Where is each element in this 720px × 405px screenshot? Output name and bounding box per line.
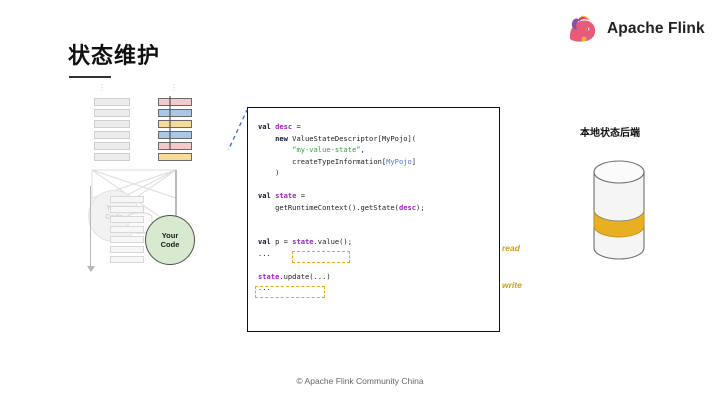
stack-bar (110, 196, 144, 203)
write-label: write (502, 280, 522, 290)
dots-right: ⋮ (170, 86, 178, 89)
color-bar (158, 98, 192, 106)
gray-bar (94, 153, 130, 161)
brand: Apache Flink (566, 14, 705, 44)
slide-root: Apache Flink 状态维护 ⋮ ⋮ (0, 0, 720, 405)
gray-bar (94, 142, 130, 150)
read-highlight-box (292, 251, 350, 263)
stack-bar (110, 216, 144, 223)
brand-name: Apache Flink (607, 20, 705, 38)
your-code-node[interactable]: Your Code (145, 215, 195, 265)
stack-bar (110, 226, 144, 233)
gray-bar (94, 131, 130, 139)
storage-label: 本地状态后端 (580, 124, 640, 139)
code-panel: val desc = new ValueStateDescriptor[MyPo… (247, 107, 500, 332)
stack-bar (110, 246, 144, 253)
flow-line (90, 186, 91, 266)
title-underline (69, 76, 111, 78)
code-block: val desc = new ValueStateDescriptor[MyPo… (258, 121, 425, 294)
gray-bar (94, 109, 130, 117)
background-pipeline-diagram: ⋮ ⋮ (88, 86, 214, 334)
footer-copyright: © Apache Flink Community China (0, 376, 720, 386)
flow-arrowhead (87, 266, 95, 272)
stack-bar (110, 206, 144, 213)
stack-bar (110, 256, 144, 263)
local-state-backend-cylinder (592, 160, 646, 260)
gray-bar (94, 120, 130, 128)
color-bar (158, 109, 192, 117)
your-code-line2: Code (161, 240, 180, 250)
color-bar (158, 131, 192, 139)
dots-left: ⋮ (98, 86, 106, 89)
color-bar (158, 120, 192, 128)
write-highlight-box (255, 286, 325, 298)
flink-squirrel-logo-icon (566, 14, 600, 44)
color-bar (158, 142, 192, 150)
your-code-line1: Your (162, 231, 179, 241)
gray-bar (94, 98, 130, 106)
read-label: read (502, 243, 520, 253)
page-title: 状态维护 (68, 38, 160, 70)
color-bar (158, 153, 192, 161)
stack-bar (110, 236, 144, 243)
